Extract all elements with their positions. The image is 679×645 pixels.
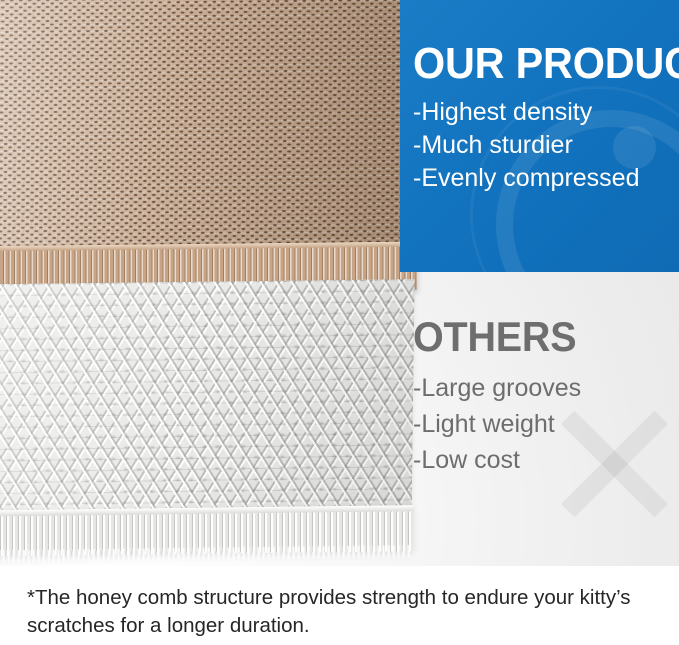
footnote-text: *The honey comb structure provides stren… — [27, 584, 657, 640]
others-feature-list: -Large grooves -Light weight -Low cost — [413, 370, 679, 478]
list-item: -Light weight — [413, 406, 679, 442]
list-item: -Large grooves — [413, 370, 679, 406]
product-photo: OUR PRODUCT -Highest density -Much sturd… — [0, 0, 679, 566]
list-item: -Low cost — [413, 442, 679, 478]
others-heading: OTHERS — [413, 314, 576, 360]
our-product-feature-list: -Highest density -Much sturdier -Evenly … — [413, 96, 679, 195]
tan-board-sheen — [0, 0, 419, 252]
grey-board-front-edge — [0, 505, 413, 557]
grey-board-sheen — [0, 279, 414, 517]
our-product-heading: OUR PRODUCT — [413, 40, 679, 88]
footnote-divider — [0, 566, 679, 567]
product-comparison-infographic: OUR PRODUCT -Highest density -Much sturd… — [0, 0, 679, 645]
list-item: -Highest density — [413, 96, 679, 129]
footnote-bar: *The honey comb structure provides stren… — [0, 566, 679, 645]
tan-honeycomb-board — [0, 0, 419, 252]
list-item: -Much sturdier — [413, 129, 679, 162]
grey-mesh-board — [0, 279, 414, 517]
list-item: -Evenly compressed — [413, 162, 679, 195]
